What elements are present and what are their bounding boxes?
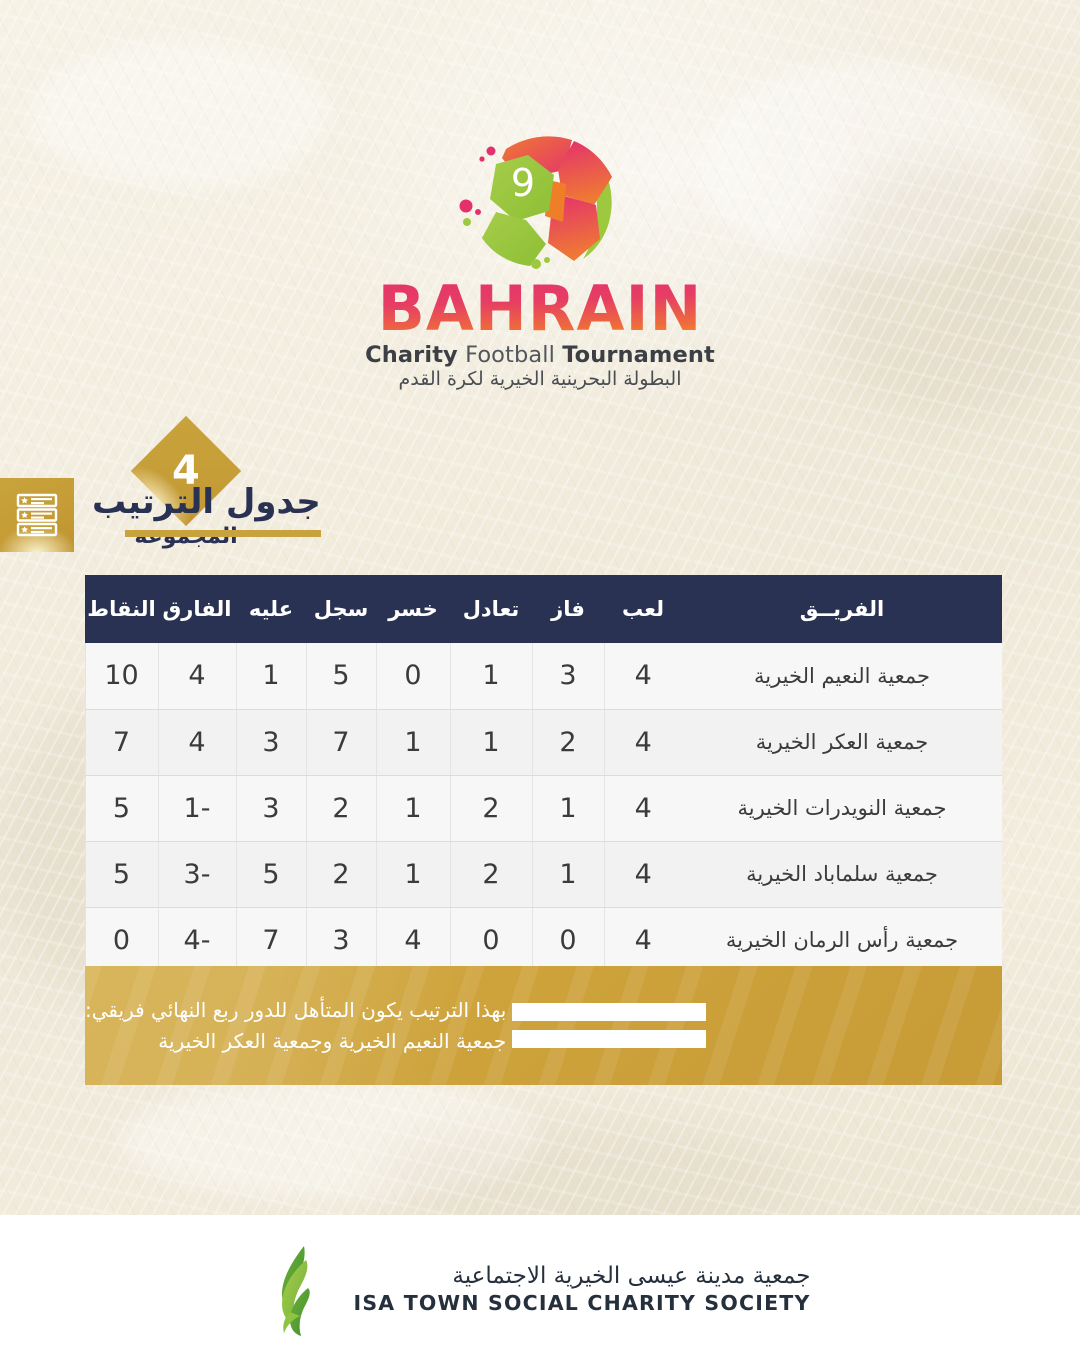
cell-drawn: 0 bbox=[450, 907, 532, 973]
logo-subtitle-en-plain: Football bbox=[458, 342, 562, 368]
qualification-note: بهذا الترتيب يكون المتأهل للدور ربع النه… bbox=[85, 966, 1002, 1085]
cell-drawn: 1 bbox=[450, 643, 532, 709]
cell-won: 1 bbox=[532, 841, 604, 907]
section-title-block: جدول الترتيب bbox=[0, 478, 1002, 552]
cell-points: 0 bbox=[85, 907, 158, 973]
society-logo: جمعية مدينة عيسى الخيرية الاجتماعية ISA … bbox=[0, 1244, 1080, 1336]
cell-played: 4 bbox=[604, 841, 682, 907]
col-header-points: النقاط bbox=[85, 575, 158, 643]
cell-won: 1 bbox=[532, 775, 604, 841]
cell-gf: 7 bbox=[306, 709, 376, 775]
redaction-bar bbox=[512, 1003, 706, 1021]
standings-list-icon bbox=[0, 478, 74, 552]
cell-ga: 5 bbox=[236, 841, 306, 907]
table-body: جمعية النعيم الخيرية 4 3 1 0 5 1 4 10 جم… bbox=[85, 643, 1002, 973]
logo-subtitle-en-bold2: Tournament bbox=[562, 342, 715, 368]
cell-played: 4 bbox=[604, 709, 682, 775]
col-header-team: الفريــق bbox=[682, 575, 1002, 643]
table-row: جمعية النعيم الخيرية 4 3 1 0 5 1 4 10 bbox=[85, 643, 1002, 709]
col-header-gd: الفارق bbox=[158, 575, 236, 643]
society-name-ar: جمعية مدينة عيسى الخيرية الاجتماعية bbox=[354, 1263, 811, 1291]
col-header-ga: عليه bbox=[236, 575, 306, 643]
cell-gf: 2 bbox=[306, 775, 376, 841]
cell-gf: 5 bbox=[306, 643, 376, 709]
society-name-en: ISA TOWN SOCIAL CHARITY SOCIETY bbox=[354, 1291, 811, 1317]
cell-played: 4 bbox=[604, 643, 682, 709]
standings-table-wrapper: الفريــق لعب فاز تعادل خسر سجل عليه الفا… bbox=[85, 575, 1002, 973]
cell-gd: 4 bbox=[158, 709, 236, 775]
note-line-2: جمعية النعيم الخيرية وجمعية العكر الخيري… bbox=[85, 1026, 506, 1057]
title-underline bbox=[125, 530, 321, 537]
cell-team: جمعية رأس الرمان الخيرية bbox=[682, 907, 1002, 973]
cell-lost: 1 bbox=[376, 775, 450, 841]
cell-lost: 0 bbox=[376, 643, 450, 709]
col-header-lost: خسر bbox=[376, 575, 450, 643]
cell-won: 0 bbox=[532, 907, 604, 973]
logo-subtitle-en-bold1: Charity bbox=[365, 342, 458, 368]
cell-played: 4 bbox=[604, 775, 682, 841]
standings-table: الفريــق لعب فاز تعادل خسر سجل عليه الفا… bbox=[85, 575, 1003, 973]
table-row: جمعية النويدرات الخيرية 4 1 2 1 2 3 -1 5 bbox=[85, 775, 1002, 841]
table-row: جمعية العكر الخيرية 4 2 1 1 7 3 4 7 bbox=[85, 709, 1002, 775]
table-row: جمعية سلماباد الخيرية 4 1 2 1 2 5 -3 5 bbox=[85, 841, 1002, 907]
cell-points: 7 bbox=[85, 709, 158, 775]
poster-canvas: 9 BAHRAIN Charity Football Tournament ال… bbox=[0, 0, 1080, 1350]
cell-points: 5 bbox=[85, 841, 158, 907]
cell-won: 3 bbox=[532, 643, 604, 709]
cell-gd: 4 bbox=[158, 643, 236, 709]
cell-team: جمعية النويدرات الخيرية bbox=[682, 775, 1002, 841]
cell-drawn: 1 bbox=[450, 709, 532, 775]
cell-gd: -3 bbox=[158, 841, 236, 907]
tournament-logo: 9 BAHRAIN Charity Football Tournament ال… bbox=[0, 118, 1080, 390]
table-row: جمعية رأس الرمان الخيرية 4 0 0 4 3 7 -4 … bbox=[85, 907, 1002, 973]
col-header-won: فاز bbox=[532, 575, 604, 643]
cell-drawn: 2 bbox=[450, 841, 532, 907]
cell-won: 2 bbox=[532, 709, 604, 775]
green-leaf-icon bbox=[270, 1244, 340, 1336]
ball-number: 9 bbox=[511, 161, 535, 205]
table-header-row: الفريــق لعب فاز تعادل خسر سجل عليه الفا… bbox=[85, 575, 1002, 643]
cell-points: 10 bbox=[85, 643, 158, 709]
cell-lost: 4 bbox=[376, 907, 450, 973]
football-icon: 9 bbox=[452, 118, 628, 270]
cell-lost: 1 bbox=[376, 841, 450, 907]
col-header-played: لعب bbox=[604, 575, 682, 643]
qualification-note-text: بهذا الترتيب يكون المتأهل للدور ربع النه… bbox=[85, 995, 510, 1057]
col-header-gf: سجل bbox=[306, 575, 376, 643]
cell-ga: 3 bbox=[236, 775, 306, 841]
cell-team: جمعية سلماباد الخيرية bbox=[682, 841, 1002, 907]
redaction-bar bbox=[512, 1030, 706, 1048]
page-title: جدول الترتيب bbox=[92, 484, 321, 521]
cell-played: 4 bbox=[604, 907, 682, 973]
cell-drawn: 2 bbox=[450, 775, 532, 841]
cell-team: جمعية العكر الخيرية bbox=[682, 709, 1002, 775]
cell-gf: 2 bbox=[306, 841, 376, 907]
cell-points: 5 bbox=[85, 775, 158, 841]
cell-lost: 1 bbox=[376, 709, 450, 775]
cell-gd: -4 bbox=[158, 907, 236, 973]
logo-subtitle-en: Charity Football Tournament bbox=[365, 342, 715, 368]
cell-ga: 7 bbox=[236, 907, 306, 973]
cell-ga: 1 bbox=[236, 643, 306, 709]
cell-team: جمعية النعيم الخيرية bbox=[682, 643, 1002, 709]
logo-subtitle-ar: البطولة البحرينية الخيرية لكرة القدم bbox=[399, 368, 682, 390]
cell-gd: -1 bbox=[158, 775, 236, 841]
redaction-bars bbox=[512, 1003, 706, 1048]
note-line-1: بهذا الترتيب يكون المتأهل للدور ربع النه… bbox=[85, 995, 506, 1026]
wordmark-bahrain: BAHRAIN bbox=[378, 279, 703, 340]
col-header-drawn: تعادل bbox=[450, 575, 532, 643]
table-header: الفريــق لعب فاز تعادل خسر سجل عليه الفا… bbox=[85, 575, 1002, 643]
cell-gf: 3 bbox=[306, 907, 376, 973]
cell-ga: 3 bbox=[236, 709, 306, 775]
